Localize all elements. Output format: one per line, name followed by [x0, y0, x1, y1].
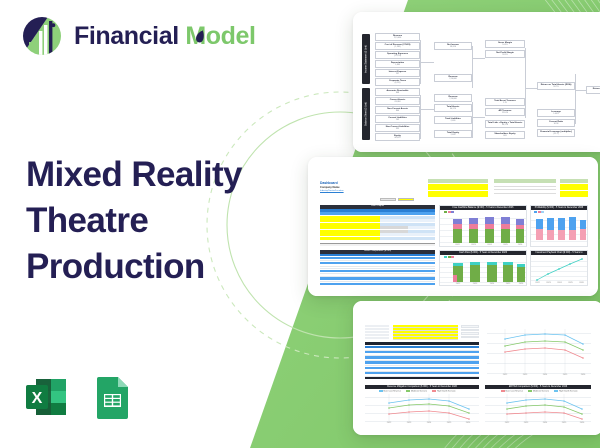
tree-node: Total Asset Turnover1.25	[485, 98, 525, 106]
tree-node: Revenue2,14,600	[434, 74, 472, 82]
tree-node: Net Income38,616	[434, 42, 472, 50]
panel-header-loan-assumptions	[494, 179, 556, 183]
tree-node: Total Liab + Equity = Total Assets66,578	[485, 120, 525, 128]
tree-node: Depreciation1,484	[375, 60, 420, 68]
tree-node: Cost of Revenue (COGS)(1,186)	[375, 42, 420, 50]
tree-node: Accounts Receivable808	[375, 88, 420, 96]
google-sheets-icon[interactable]	[88, 373, 136, 421]
tree-node: Revenue2,15,000	[375, 33, 420, 41]
tree-node: Current Ratio16.58	[537, 119, 575, 127]
screenshot-card-dupont-tree[interactable]: Income Statement (3 Unit) Balance Sheet …	[353, 12, 600, 152]
tree-node: Corporate Taxes(8,115)	[375, 78, 420, 86]
page-title-line-3: Production	[26, 244, 326, 290]
chart-revenue-mitigation-comparison: Revenue Mitigation Comparison ($ 000) - …	[365, 385, 479, 429]
circle-bar-chart-logo-icon	[20, 14, 64, 58]
chart-cash-flow: Cash Flow ($ 000) - 5 Years to December …	[439, 250, 527, 286]
logo-text-financial: Financial	[74, 22, 179, 50]
tree-node: Non-Current Assets804	[375, 106, 420, 114]
leaf-accent-icon	[195, 30, 204, 43]
panel-header-assumptions	[428, 179, 488, 183]
chart-investment-payback: Investment Payback Chart ($ 000) - 5 Yea…	[530, 250, 588, 286]
screenshot-card-financial-statements[interactable]: 2022 2023 2024 2025 2026 Revenue Mitigat…	[353, 301, 600, 435]
svg-text:X: X	[32, 390, 43, 407]
tree-node: Financial Leverage (multiplier)(91.2)	[537, 129, 575, 137]
tree-node: Non-Current Liabilities335	[375, 124, 420, 132]
sidebar-label-income-statement: Income Statement (3 Unit)	[362, 34, 370, 84]
page-title-line-2: Theatre	[26, 198, 326, 244]
tree-node: Return on Total Assets (ROA)18.7%	[537, 82, 575, 90]
chart-profitability: Profitability ($ 000) - 5 Years to Decem…	[530, 205, 588, 247]
page-title-line-1: Mixed Reality	[26, 152, 326, 198]
chart-free-cashflow-balance: Free Cashflow Balance ($ 000) - 5 Years …	[439, 205, 527, 247]
file-format-icons: X	[22, 373, 136, 421]
tree-node: Net Profit Margin18.1%	[485, 50, 525, 58]
tree-node: Total Assets66,570	[434, 104, 472, 112]
tree-node: Current Assets63,084	[375, 97, 420, 105]
tree-node: Return on Equity (ROE)20.1%	[586, 86, 600, 94]
poster-canvas: Financial Model Mixed Reality Theatre Pr…	[0, 0, 600, 448]
tree-node: Operating Expenses(17,724)	[375, 51, 420, 59]
microsoft-excel-icon[interactable]: X	[22, 373, 70, 421]
tree-node: Leverage1.09%	[537, 109, 575, 117]
dashboard-button[interactable]	[380, 198, 396, 201]
sidebar-label-balance-sheet: Balance Sheet (3 Unit)	[362, 88, 370, 140]
tree-node: Total Liabilities2,600	[434, 116, 472, 124]
brand-logo[interactable]: Financial Model	[20, 14, 256, 58]
tree-node: Revenue2,14,600	[434, 94, 472, 102]
dashboard-button-highlight[interactable]	[398, 198, 414, 201]
screenshot-card-dashboard[interactable]: Dashboard Company Name Industry/Sector/L…	[308, 157, 598, 296]
tree-node: Equity60,678	[375, 133, 420, 141]
chart-top-right-lines: 2022 2023 2024 2025 2026	[487, 325, 591, 381]
tree-node: Total Equity2,600	[434, 130, 472, 138]
page-title: Mixed Reality Theatre Production	[26, 152, 326, 291]
tree-node: Interest Expense237	[375, 69, 420, 77]
tree-node: Current Liabilities205	[375, 115, 420, 123]
tree-node: Gross Margin14.5%	[485, 40, 525, 48]
chart-ebitda-comparison: EBITDA Comparison ($ 000) - 5 Years to D…	[485, 385, 591, 429]
panel-header-key-metrics	[560, 179, 588, 183]
tree-node: AR Turnover220.24	[485, 108, 525, 116]
tree-node: Shareholders Equity663	[485, 131, 525, 139]
